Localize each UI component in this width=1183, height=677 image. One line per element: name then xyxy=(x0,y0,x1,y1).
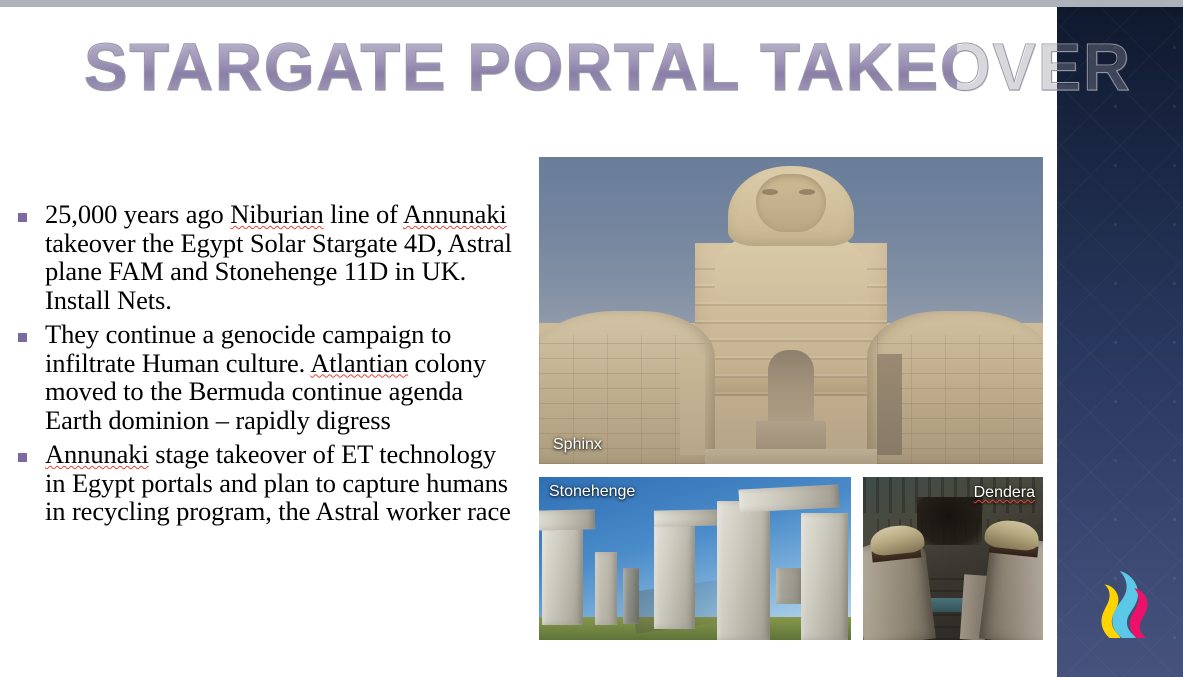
standing-stone xyxy=(654,523,695,629)
lintel-stone xyxy=(654,509,723,526)
misspelled-word: Atlantian xyxy=(310,348,408,378)
square-bullet-icon xyxy=(18,213,27,222)
bullet-text-3: Annunaki stage takeover of ET technology… xyxy=(45,440,518,526)
stonehenge-photo: Stonehenge xyxy=(539,477,851,640)
standing-stone xyxy=(542,524,583,625)
misspelled-word: Annunaki xyxy=(403,199,507,229)
sphinx-caption: Sphinx xyxy=(553,436,602,454)
tri-flame-logo xyxy=(1091,558,1157,640)
pillar-left xyxy=(680,354,705,455)
sphinx-photo: Sphinx xyxy=(539,157,1043,464)
standing-stone xyxy=(623,568,639,623)
standing-stone xyxy=(776,568,804,604)
bullet-list: 25,000 years ago Niburian line of Annuna… xyxy=(18,200,518,532)
presentation-slide: STARGATE PORTAL TAKEOVER 25,000 years ag… xyxy=(0,0,1183,677)
list-item: 25,000 years ago Niburian line of Annuna… xyxy=(18,200,518,314)
page-title: STARGATE PORTAL TAKEOVER xyxy=(84,30,957,110)
pillar-right xyxy=(877,354,902,455)
text-run: 25,000 years ago xyxy=(45,199,230,229)
top-border-strip xyxy=(0,0,1183,7)
bullet-text-2: They continue a genocide campaign to inf… xyxy=(45,320,518,434)
bullet-text-1: 25,000 years ago Niburian line of Annuna… xyxy=(45,200,518,314)
walkway xyxy=(705,449,876,464)
standing-stone xyxy=(717,501,770,640)
standing-stone xyxy=(595,552,617,625)
square-bullet-icon xyxy=(18,333,27,342)
misspelled-word: Niburian xyxy=(230,199,323,229)
list-item: They continue a genocide campaign to inf… xyxy=(18,320,518,434)
text-run: takeover the Egypt Solar Stargate 4D, As… xyxy=(45,228,512,315)
text-run: line of xyxy=(324,199,403,229)
standing-stone xyxy=(801,513,848,640)
sphinx-face xyxy=(756,174,827,232)
dendera-photo: Dendera xyxy=(863,477,1043,640)
sphinx-left-eye xyxy=(762,189,778,195)
stonehenge-caption: Stonehenge xyxy=(549,483,635,501)
dendera-caption: Dendera xyxy=(974,484,1035,502)
list-item: Annunaki stage takeover of ET technology… xyxy=(18,440,518,526)
lintel-stone xyxy=(539,509,595,530)
square-bullet-icon xyxy=(18,453,27,462)
misspelled-word: Annunaki xyxy=(45,439,149,469)
sphinx-right-eye xyxy=(799,189,815,195)
